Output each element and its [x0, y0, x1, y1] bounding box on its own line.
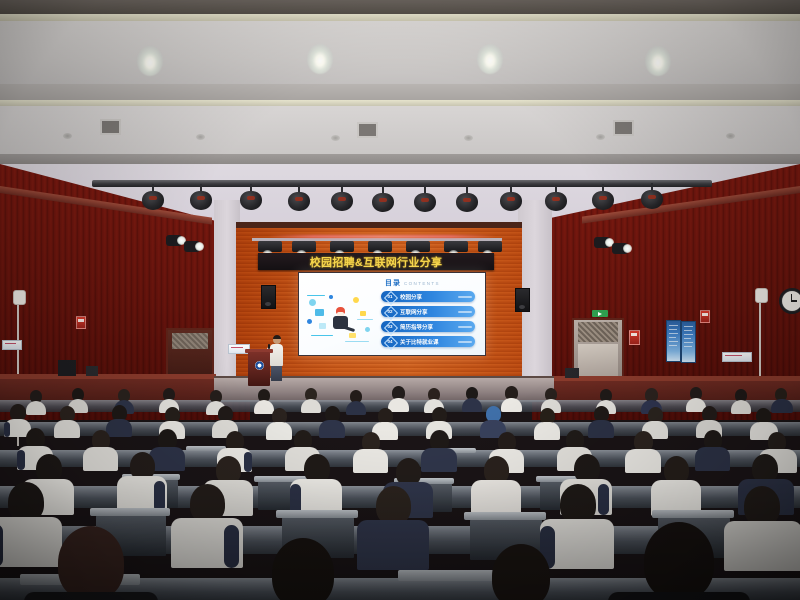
stage-par-light-icon [142, 184, 164, 210]
side-wall-spotlight-icon [184, 241, 200, 252]
rear-red-light-strip [268, 235, 496, 238]
right-wall-notice [722, 352, 752, 362]
stage-par-light-icon [641, 183, 663, 209]
slide-illustration-icon [305, 289, 377, 345]
recessed-light-icon [596, 134, 605, 140]
side-wall-spotlight-icon [594, 237, 610, 248]
slide-agenda-item: 01 校园分享 [381, 291, 475, 302]
podium [248, 352, 270, 386]
stage-par-light-icon [331, 185, 353, 211]
stage-par-light-icon [190, 184, 212, 210]
left-wall-notice [2, 340, 22, 350]
wall-clock-icon [779, 288, 800, 314]
chair-armrest [464, 512, 546, 520]
lighting-truss [92, 180, 712, 187]
stage-par-light-icon [500, 185, 522, 211]
slide-header-cn: 目录 [385, 278, 401, 288]
presentation-slide: 目录 CONTENTS 01 校园分享 02 互联网分享 03 [299, 273, 485, 355]
ceiling-vent-icon [100, 119, 121, 135]
fire-alarm-icon [76, 316, 86, 329]
exit-sign-icon [592, 310, 608, 317]
agenda-label: 校园分享 [400, 293, 422, 301]
recessed-light-icon [464, 135, 473, 141]
ceiling-downlight-icon [645, 46, 671, 76]
stage-par-light-icon [592, 184, 614, 210]
stage-par-light-icon [240, 184, 262, 210]
wall-poster [666, 320, 681, 362]
slide-header: 目录 CONTENTS [385, 278, 440, 288]
right-wall-sign-icon [755, 288, 768, 303]
agenda-bar-tail [458, 326, 472, 328]
agenda-label: 简历指导分享 [400, 323, 433, 331]
podium-emblem-icon [255, 361, 264, 370]
agenda-bar-tail [458, 296, 472, 298]
ceiling-cove-glow-front [0, 14, 800, 21]
stage-par-light-icon [545, 185, 567, 211]
left-av-equipment [58, 360, 76, 376]
slide-header-en: CONTENTS [404, 281, 440, 286]
agenda-number-badge: 03 [385, 322, 395, 332]
chair-armrest [90, 508, 170, 516]
ceiling-top-shadow [0, 0, 800, 14]
recessed-light-icon [196, 134, 205, 140]
chair-armrest [276, 510, 358, 518]
ceiling-step-shadow-rear [0, 154, 800, 164]
agenda-number: 01 [387, 294, 392, 299]
event-banner: 校园招聘&互联网行业分享 [258, 253, 494, 270]
recessed-light-icon [63, 133, 72, 139]
ceiling-downlight-icon [307, 44, 333, 74]
ceiling-vent-icon [613, 120, 634, 136]
chair-armrest [652, 510, 734, 518]
stage-par-light-icon [414, 186, 436, 212]
left-av-equipment-2 [86, 366, 98, 376]
slide-agenda-item: 04 关于比特就业课 [381, 336, 475, 347]
agenda-number: 04 [387, 339, 392, 344]
left-cabinet-top [0, 374, 216, 379]
stage-par-light-icon [372, 186, 394, 212]
door-grille [172, 333, 208, 349]
ceiling-panel-front [0, 21, 800, 84]
agenda-bar-tail [458, 311, 472, 313]
side-wall-spotlight-icon [612, 243, 628, 254]
stage-par-light-icon [288, 185, 310, 211]
agenda-label: 关于比特就业课 [400, 338, 439, 346]
agenda-bar-tail [458, 341, 472, 343]
agenda-number-badge: 02 [385, 307, 395, 317]
fire-alarm-icon [700, 310, 710, 323]
recessed-light-icon [331, 135, 340, 141]
agenda-label: 互联网分享 [400, 308, 428, 316]
agenda-number: 02 [387, 309, 392, 314]
door-grille [578, 322, 618, 342]
right-av-equipment [565, 368, 579, 378]
event-banner-title: 校园招聘&互联网行业分享 [310, 254, 443, 270]
audience-area [0, 386, 800, 600]
ceiling-vent-icon [357, 122, 378, 138]
right-cabinet-top [552, 376, 800, 381]
stage-loudspeaker-left [261, 285, 276, 309]
slide-agenda-item: 02 互联网分享 [381, 306, 475, 317]
agenda-number-badge: 04 [385, 337, 395, 347]
side-wall-spotlight-icon [166, 235, 182, 246]
slide-agenda-item: 03 简历指导分享 [381, 321, 475, 332]
ceiling-downlight-icon [477, 44, 503, 74]
agenda-number: 03 [387, 324, 392, 329]
presenter-body [270, 344, 283, 366]
presenter-hair [273, 335, 281, 339]
stage-loudspeaker-right [515, 288, 530, 312]
agenda-number-badge: 01 [385, 292, 395, 302]
presenter-legs [271, 365, 282, 381]
left-wall-sign-icon [13, 290, 26, 305]
projection-screen: 目录 CONTENTS 01 校园分享 02 互联网分享 03 [298, 272, 486, 356]
ceiling-step-shadow-front [0, 84, 800, 100]
recessed-light-icon [726, 133, 735, 139]
stage-par-light-icon [456, 186, 478, 212]
auditorium-photo: 校园招聘&互联网行业分享 目录 CONTENTS 01 校园分享 02 互联网分… [0, 0, 800, 600]
ceiling-downlight-icon [137, 46, 163, 76]
fire-extinguisher-box-icon [629, 330, 640, 345]
wall-poster [681, 321, 696, 363]
